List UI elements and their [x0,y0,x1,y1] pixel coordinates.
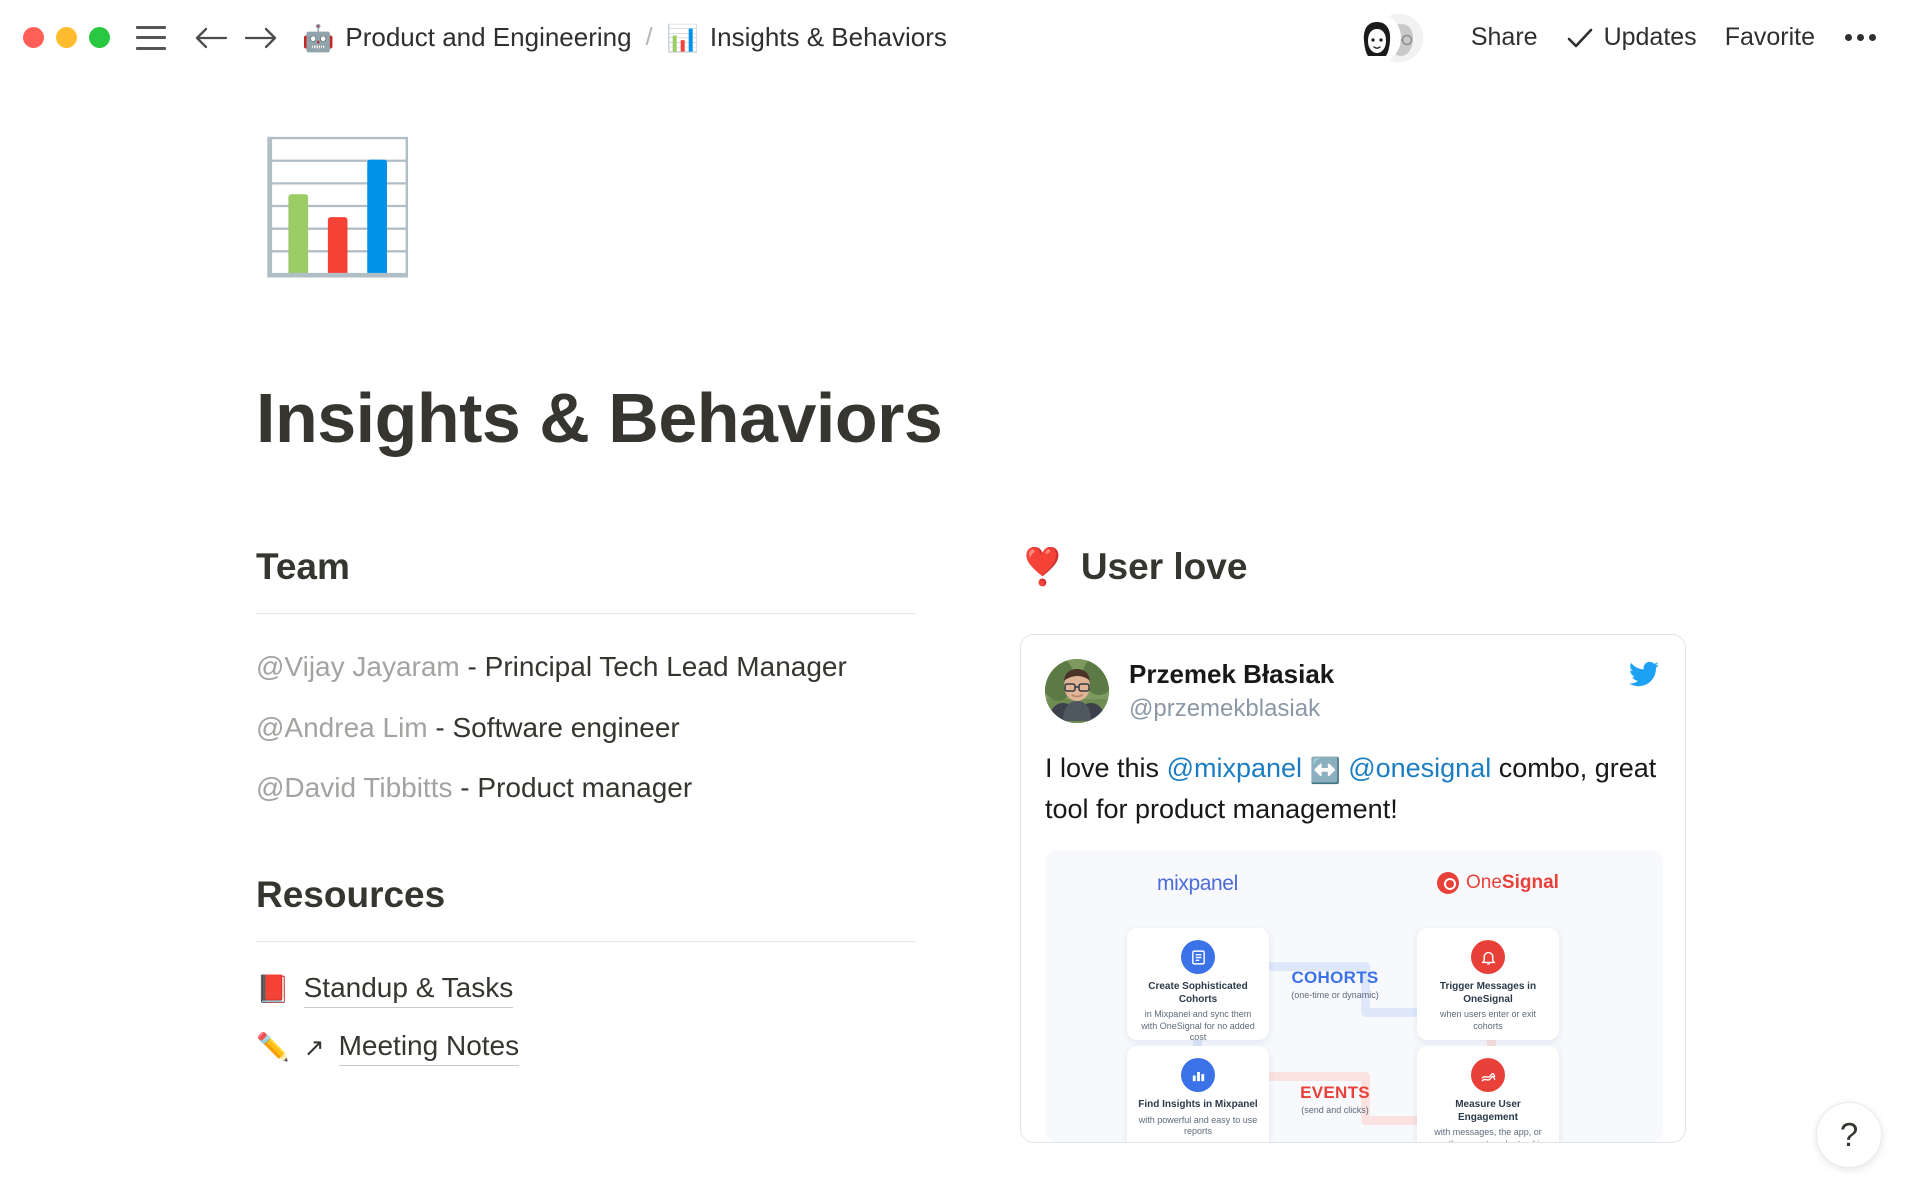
team-heading-label: Team [256,546,350,588]
diagram-box-find-insights: Find Insights in Mixpanel with powerful … [1127,1046,1269,1142]
diagram-label-title: EVENTS [1260,1083,1410,1103]
breadcrumb-item-insights-and-behaviors[interactable]: 📊 Insights & Behaviors [667,22,947,53]
resource-link-meeting-notes[interactable]: ✏️ ↗ Meeting Notes [256,1030,916,1066]
minimize-window-button[interactable] [56,27,77,48]
team-member-row: @Andrea Lim - Software engineer [256,709,916,748]
connector-events-top [1261,1072,1369,1081]
bar-chart-icon: 📊 [667,25,699,51]
collaborator-avatars[interactable] [1349,12,1425,64]
onesignal-logo-text: OneSignal [1466,872,1559,894]
hamburger-line [136,26,166,29]
left-right-arrow-icon: ↔️ [1310,757,1341,785]
heart-exclamation-icon: ❣️ [1020,549,1065,585]
hamburger-menu-icon[interactable] [136,26,166,50]
breadcrumb-item-product-and-engineering[interactable]: 🤖 Product and Engineering [302,22,632,53]
page-content: 📊 Insights & Behaviors Team @Vijay Jayar… [0,76,1920,1200]
document-icon [1181,940,1215,974]
onesignal-signal: Signal [1502,872,1559,893]
team-member-row: @David Tibbitts - Product manager [256,769,916,808]
hamburger-line [136,36,166,39]
robot-icon: 🤖 [302,25,334,51]
more-options-icon[interactable] [1829,28,1892,47]
tweet-text-prefix: I love this [1045,753,1167,783]
user-love-divider [1020,613,1692,614]
pencil-icon: ✏️ [256,1034,290,1061]
diagram-box-subtitle: when users enter or exit cohorts [1426,1009,1550,1032]
tweet-mention-onesignal[interactable]: @onesignal [1348,753,1491,783]
favorite-button[interactable]: Favorite [1711,17,1829,58]
tweet-author-name: Przemek Błasiak [1129,659,1334,690]
team-member-dash: - [453,772,478,803]
team-member-mention[interactable]: @Vijay Jayaram [256,651,460,682]
resources-divider [256,941,916,942]
forward-arrow-icon[interactable] [242,19,280,57]
breadcrumb-label: Insights & Behaviors [710,22,947,53]
integration-diagram: mixpanel OneSignal [1045,850,1663,1142]
close-window-button[interactable] [23,27,44,48]
team-member-dash: - [460,651,485,682]
diagram-label-subtitle: (send and clicks) [1260,1105,1410,1115]
external-link-arrow-icon: ↗ [304,1033,325,1063]
onesignal-mark-icon [1437,872,1459,894]
favorite-label: Favorite [1725,23,1815,52]
page-icon[interactable]: 📊 [258,144,1920,304]
dot [1869,34,1876,41]
closed-book-icon: 📕 [256,976,290,1003]
breadcrumb-separator: / [646,23,653,52]
diagram-box-create-cohorts: Create Sophisticated Cohorts in Mixpanel… [1127,928,1269,1040]
diagram-box-title: Measure User Engagement [1426,1099,1550,1124]
tweet-author-handle[interactable]: @przemekblasiak [1129,695,1334,723]
resource-label: Meeting Notes [339,1030,520,1066]
mixpanel-logo: mixpanel [1157,872,1238,896]
navigation-arrows [192,19,280,57]
diagram-label-cohorts: COHORTS (one-time or dynamic) [1260,968,1410,1000]
line-chart-icon [1471,1058,1505,1092]
maximize-window-button[interactable] [89,27,110,48]
share-button[interactable]: Share [1457,17,1552,58]
dot [1857,34,1864,41]
diagram-box-trigger-messages: Trigger Messages in OneSignal when users… [1417,928,1559,1040]
team-member-role: Principal Tech Lead Manager [485,651,847,682]
check-icon [1566,27,1594,49]
diagram-box-measure-engagement: Measure User Engagement with messages, t… [1417,1046,1559,1142]
team-member-mention[interactable]: @David Tibbitts [256,772,453,803]
user-love-heading-label: User love [1081,546,1248,588]
resources-heading-label: Resources [256,874,445,916]
diagram-label-events: EVENTS (send and clicks) [1260,1083,1410,1115]
breadcrumb: 🤖 Product and Engineering / 📊 Insights &… [302,22,947,53]
team-member-role: Product manager [477,772,692,803]
hamburger-line [136,47,166,50]
breadcrumb-label: Product and Engineering [345,22,631,53]
resources-list: 📕 Standup & Tasks ✏️ ↗ Meeting Notes [256,972,916,1066]
diagram-box-subtitle: with powerful and easy to use reports [1136,1115,1260,1138]
resource-label: Standup & Tasks [304,972,514,1008]
avatar [1349,12,1401,64]
diagram-box-title: Create Sophisticated Cohorts [1136,981,1260,1006]
team-member-role: Software engineer [453,712,680,743]
titlebar: 🤖 Product and Engineering / 📊 Insights &… [0,0,1920,76]
diagram-label-title: COHORTS [1260,968,1410,988]
content-columns: Team @Vijay Jayaram - Principal Tech Lea… [0,546,1920,1143]
team-member-mention[interactable]: @Andrea Lim [256,712,428,743]
team-divider [256,613,916,614]
twitter-bird-icon[interactable] [1627,659,1661,694]
right-column: ❣️ User love [1020,546,1692,1143]
updates-button[interactable]: Updates [1552,17,1711,58]
diagram-box-title: Trigger Messages in OneSignal [1426,981,1550,1006]
tweet-media-image[interactable]: mixpanel OneSignal [1045,850,1663,1142]
titlebar-actions: Share Updates Favorite [1349,12,1920,64]
team-member-row: @Vijay Jayaram - Principal Tech Lead Man… [256,648,916,687]
bar-chart-icon [1181,1058,1215,1092]
help-button[interactable]: ? [1816,1102,1882,1168]
bell-icon [1471,940,1505,974]
dot [1845,34,1852,41]
tweet-author-avatar [1045,659,1109,723]
user-love-heading: ❣️ User love [1020,546,1692,588]
team-heading: Team [256,546,916,588]
tweet-mention-mixpanel[interactable]: @mixpanel [1167,753,1302,783]
team-list: @Vijay Jayaram - Principal Tech Lead Man… [256,648,916,808]
tweet-text-middle [1302,753,1310,783]
onesignal-one: One [1466,872,1502,893]
app-window: 🤖 Product and Engineering / 📊 Insights &… [0,0,1920,1200]
diagram-label-subtitle: (one-time or dynamic) [1260,990,1410,1000]
onesignal-logo: OneSignal [1437,872,1559,894]
tweet-body: I love this @mixpanel ↔️ @onesignal comb… [1045,749,1661,828]
tweet-header: Przemek Błasiak @przemekblasiak [1045,659,1661,723]
tweet-author-names: Przemek Błasiak @przemekblasiak [1129,659,1334,723]
back-arrow-icon[interactable] [192,19,230,57]
updates-label: Updates [1604,23,1697,52]
team-member-dash: - [428,712,453,743]
window-controls [23,27,110,48]
diagram-box-subtitle: with messages, the app, or any other eve… [1426,1127,1550,1142]
diagram-box-subtitle: in Mixpanel and sync them with OneSignal… [1136,1009,1260,1044]
tweet-embed-card[interactable]: Przemek Błasiak @przemekblasiak I love t… [1020,634,1686,1143]
page-title: Insights & Behaviors [256,378,1920,458]
share-label: Share [1471,23,1538,52]
diagram-box-title: Find Insights in Mixpanel [1136,1099,1260,1112]
resources-heading: Resources [256,874,916,916]
left-column: Team @Vijay Jayaram - Principal Tech Lea… [256,546,916,1143]
resource-link-standup-and-tasks[interactable]: 📕 Standup & Tasks [256,972,916,1008]
